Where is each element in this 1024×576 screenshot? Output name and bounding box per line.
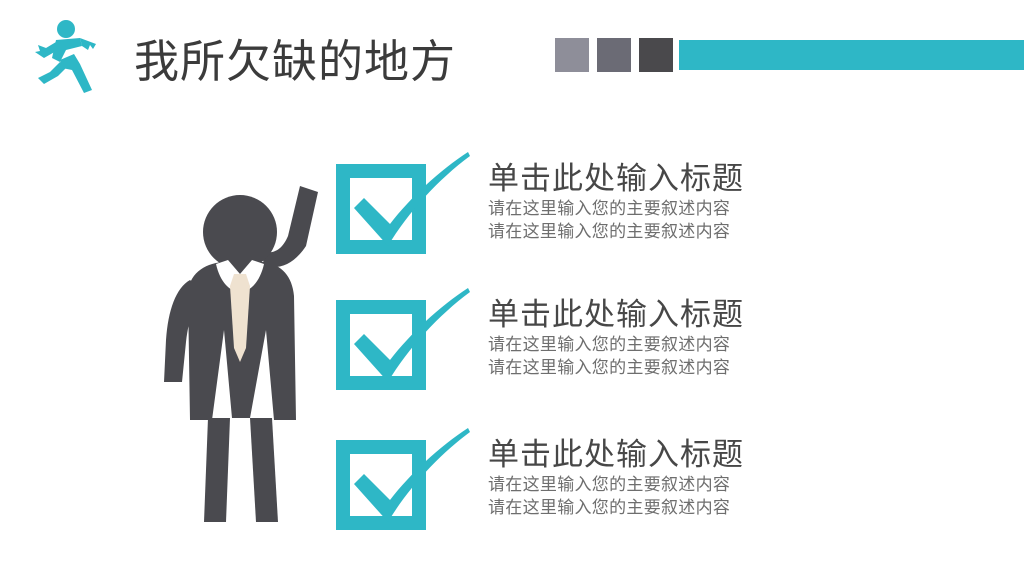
list-item-text: 单击此处输入标题 请在这里输入您的主要叙述内容 请在这里输入您的主要叙述内容 [488,160,1018,243]
list-item-heading: 单击此处输入标题 [488,436,1018,474]
list-item-heading: 单击此处输入标题 [488,160,1018,198]
checkbox-check-icon[interactable] [330,152,470,264]
page-title: 我所欠缺的地方 [134,22,514,92]
list-item-text: 单击此处输入标题 请在这里输入您的主要叙述内容 请在这里输入您的主要叙述内容 [488,296,1018,379]
list-item[interactable]: 单击此处输入标题 请在这里输入您的主要叙述内容 请在这里输入您的主要叙述内容 [330,152,1024,282]
deco-square-dark [639,38,673,72]
list-item-body-line: 请在这里输入您的主要叙述内容 [488,221,1018,243]
running-person-logo [22,12,108,98]
list-item[interactable]: 单击此处输入标题 请在这里输入您的主要叙述内容 请在这里输入您的主要叙述内容 [330,288,1024,418]
list-item-heading: 单击此处输入标题 [488,296,1018,334]
businessman-silhouette [146,170,336,530]
list-item-body-line: 请在这里输入您的主要叙述内容 [488,474,1018,496]
slide-canvas: 我所欠缺的地方 [0,0,1024,576]
list-item-body-line: 请在这里输入您的主要叙述内容 [488,497,1018,519]
list-item[interactable]: 单击此处输入标题 请在这里输入您的主要叙述内容 请在这里输入您的主要叙述内容 [330,428,1024,558]
list-item-text: 单击此处输入标题 请在这里输入您的主要叙述内容 请在这里输入您的主要叙述内容 [488,436,1018,519]
checkbox-check-icon[interactable] [330,428,470,540]
list-item-body-line: 请在这里输入您的主要叙述内容 [488,198,1018,220]
list-item-body-line: 请在这里输入您的主要叙述内容 [488,357,1018,379]
list-item-body-line: 请在这里输入您的主要叙述内容 [488,334,1018,356]
deco-square-medium [597,38,631,72]
header-decoration-squares [555,38,681,72]
deco-bar-teal [679,40,1024,70]
deco-square-light [555,38,589,72]
checkbox-check-icon[interactable] [330,288,470,400]
